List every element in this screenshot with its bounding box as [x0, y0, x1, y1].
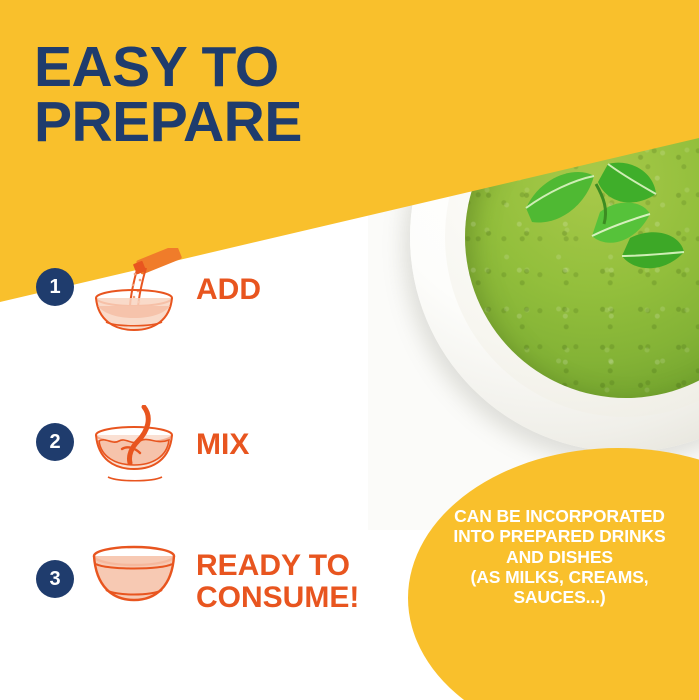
- step-label-2: MIX: [196, 429, 249, 461]
- callout-text: CAN BE INCORPORATED INTO PREPARED DRINKS…: [420, 506, 699, 607]
- poster-root: EASY TO PREPARE 1: [0, 0, 699, 700]
- callout-line-1: CAN BE INCORPORATED: [420, 506, 699, 526]
- full-bowl-icon: [82, 540, 186, 618]
- step-number-badge-1: 1: [36, 268, 74, 306]
- bowl-with-spoon-icon: [82, 405, 186, 485]
- callout-line-3: AND DISHES: [420, 547, 699, 567]
- callout-line-2: INTO PREPARED DRINKS: [420, 526, 699, 546]
- bowl-with-sachet-pouring-icon: [82, 248, 186, 334]
- step-label-1: ADD: [196, 274, 261, 306]
- step-label-3-line-2: CONSUME!: [196, 581, 359, 614]
- steps-list: 1: [0, 0, 430, 700]
- step-label-3: READY TO CONSUME!: [196, 550, 359, 613]
- step-number-badge-3: 3: [36, 560, 74, 598]
- step-label-3-line-1: READY TO: [196, 549, 350, 582]
- callout-line-5: SAUCES...): [420, 587, 699, 607]
- step-number-badge-2: 2: [36, 423, 74, 461]
- callout-line-4: (AS MILKS, CREAMS,: [420, 567, 699, 587]
